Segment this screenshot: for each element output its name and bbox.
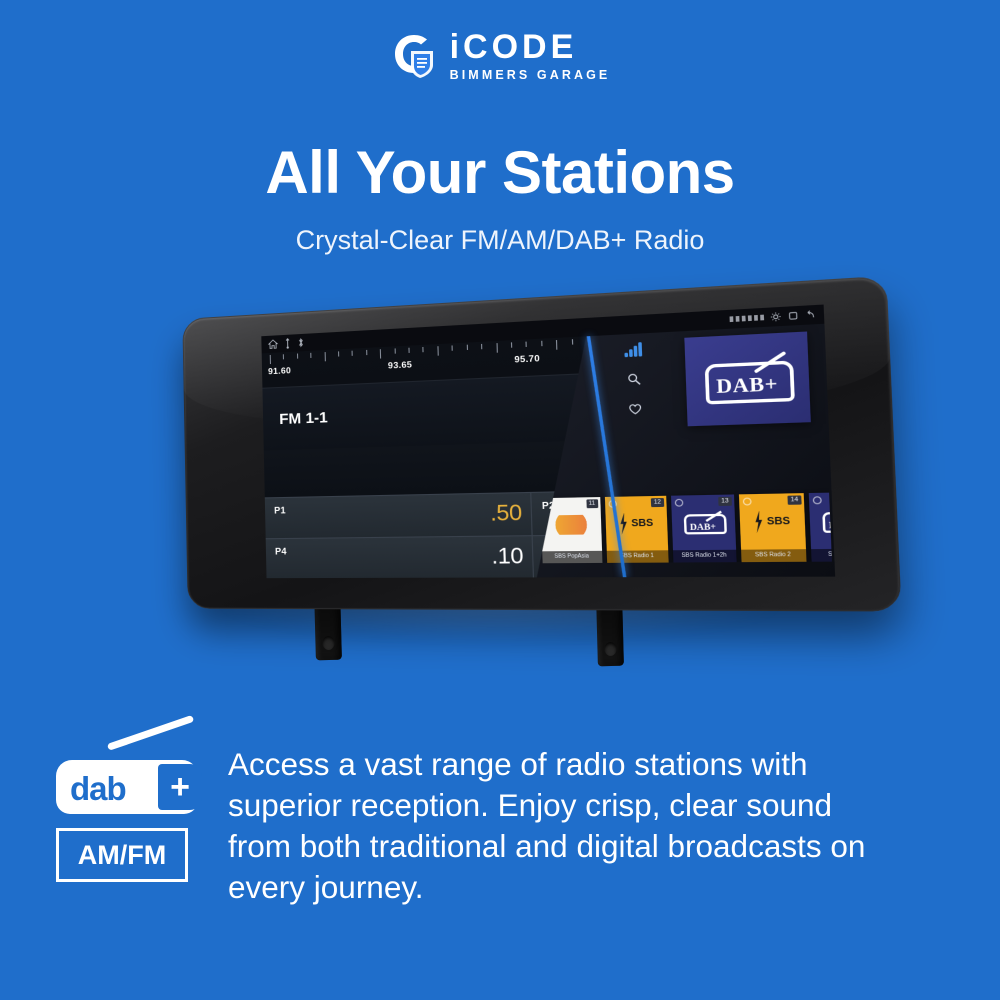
recents-icon[interactable] [787,310,799,321]
brand-name: iCODE [450,30,611,64]
station-artwork: DAB+ [808,492,832,549]
station-artwork: SBS [738,493,805,550]
ruler-label: 93.65 [388,359,413,371]
station-artwork: DAB+ [670,494,735,550]
station-label: SBS Radio 1 [606,550,668,563]
plus-glyph: + [170,770,190,804]
antenna-icon [107,715,194,751]
promo-page: iCODE BIMMERS GARAGE All Your Stations C… [0,0,1000,1000]
feature-description: Access a vast range of radio stations wi… [228,744,888,908]
station-tile[interactable]: 14 SBS SBS Radio 2 [738,493,806,562]
dab-logo-tile: DAB+ [684,331,811,426]
station-label: SBS Radio 2 [740,549,805,562]
status-indicator-dots [730,315,765,322]
icode-shield-g-icon [390,32,438,80]
brand-wordmark: iCODE BIMMERS GARAGE [450,30,611,82]
preset-button[interactable]: P1 .50 [265,492,533,538]
station-tile[interactable]: 13 DAB+ SBS Radio 1+2h [670,494,736,562]
dab-radio-icon: DAB+ [702,352,793,407]
settings-icon[interactable] [770,311,782,322]
ruler-label: 91.60 [268,365,291,376]
preset-button[interactable]: P4 .10 [266,535,534,579]
home-icon[interactable] [267,338,278,350]
dab-badge-plus: + [158,764,202,810]
brand-tagline: BIMMERS GARAGE [450,69,611,82]
preset-name: P1 [274,505,286,515]
bluetooth-icon [297,337,305,349]
page-subtitle: Crystal-Clear FM/AM/DAB+ Radio [0,225,1000,256]
signal-bars-icon [624,342,642,357]
station-label: SBS Radio 1+2h [672,550,736,563]
station-tile-strip[interactable]: 11 SBS PopAsia 12 SBS SBS Radio 1 [540,488,832,563]
format-badges: dab + AM/FM [56,742,206,882]
head-unit-product-image: 91.60 93.65 95.70 97.75 99.80 FM 1-1 87.… [175,318,825,678]
amfm-badge: AM/FM [56,828,188,882]
page-title: All Your Stations [0,138,1000,207]
back-icon[interactable] [805,309,817,320]
station-label: SBS PopAsia [542,551,602,563]
device-screen: 91.60 93.65 95.70 97.75 99.80 FM 1-1 87.… [261,305,835,579]
station-tile[interactable]: 12 SBS SBS Radio 1 [604,496,668,563]
preset-value: .50 [265,501,531,530]
usb-icon [283,338,291,350]
brand-header: iCODE BIMMERS GARAGE [0,30,1000,82]
dab-badge-text: dab [70,772,126,805]
preset-value: .10 [266,544,533,571]
station-tile[interactable]: 15 DAB+ SBS Radio [808,492,832,562]
head-unit-device: 91.60 93.65 95.70 97.75 99.80 FM 1-1 87.… [182,276,901,612]
station-artwork: SBS [604,496,667,551]
preset-name: P4 [275,546,287,556]
dab-logo-text: DAB+ [703,372,792,399]
ruler-label: 95.70 [514,353,540,365]
station-label: SBS Radio [810,549,832,562]
search-icon[interactable] [626,372,642,387]
heart-icon[interactable] [627,401,643,416]
amfm-badge-text: AM/FM [78,840,166,871]
band-label: FM 1-1 [279,409,328,428]
dab-control-rail [624,342,644,416]
dab-plus-badge: dab + [56,742,206,814]
